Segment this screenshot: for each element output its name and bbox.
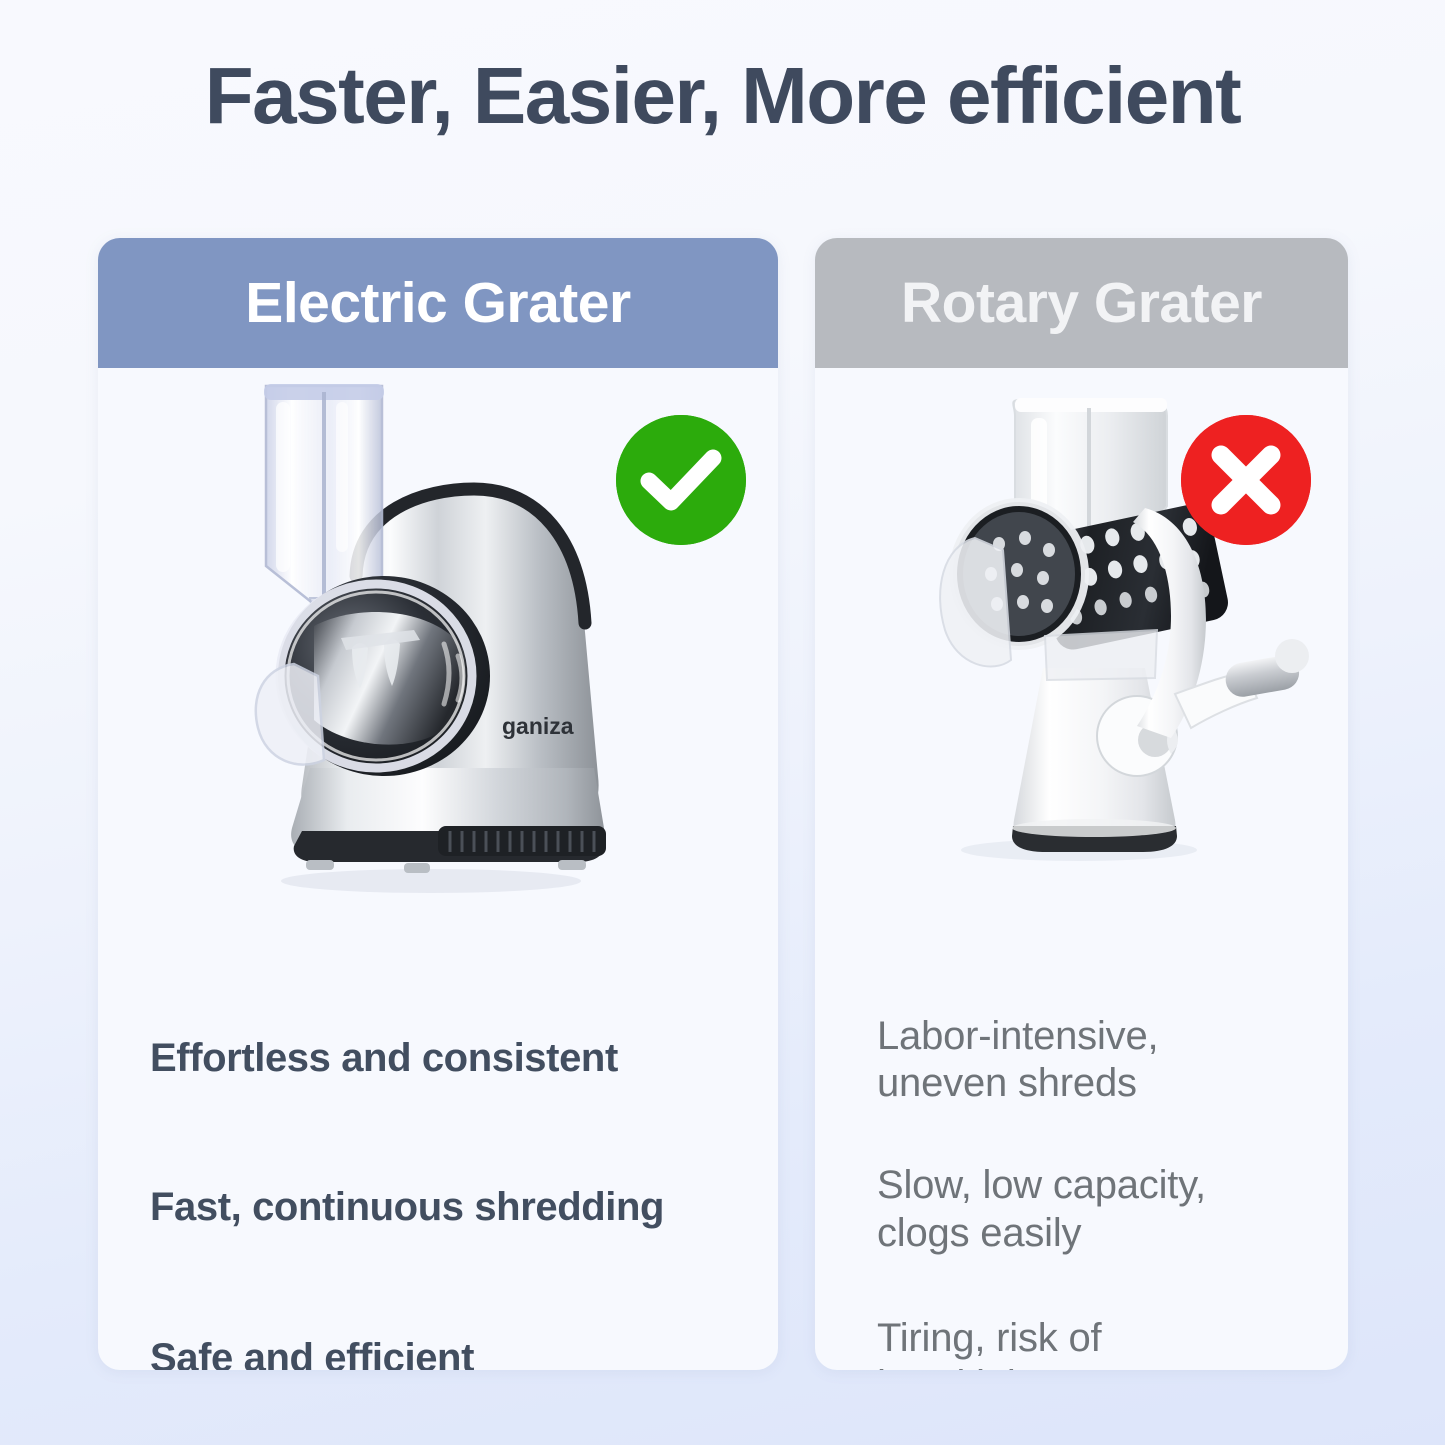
feature-item: Tiring, risk of hand injury bbox=[877, 1315, 1348, 1370]
feature-item: Fast, continuous shredding bbox=[150, 1184, 778, 1230]
card-body-electric-grater: ganiza Effortless and consistent Fast, c… bbox=[98, 368, 778, 1370]
check-icon bbox=[616, 415, 746, 545]
feature-item: Slow, low capacity, clogs easily bbox=[877, 1162, 1348, 1256]
product-area-electric: ganiza bbox=[98, 368, 778, 913]
brand-logo: ganiza bbox=[502, 713, 574, 739]
cross-icon bbox=[1181, 415, 1311, 545]
card-rotary-grater: Rotary Grater bbox=[815, 238, 1348, 1370]
product-area-rotary bbox=[815, 368, 1348, 913]
page-title: Faster, Easier, More efficient bbox=[0, 52, 1445, 140]
card-electric-grater: Electric Grater bbox=[98, 238, 778, 1370]
comparison-infographic: Faster, Easier, More efficient Electric … bbox=[0, 0, 1445, 1445]
feature-item: Safe and efficient bbox=[150, 1335, 778, 1370]
feature-item: Labor-intensive, uneven shreds bbox=[877, 1013, 1348, 1107]
feature-list-rotary: Labor-intensive, uneven shreds Slow, low… bbox=[815, 913, 1348, 1370]
electric-grater-product-image: ganiza bbox=[206, 376, 646, 906]
card-header-rotary-grater: Rotary Grater bbox=[815, 238, 1348, 368]
card-header-electric-grater: Electric Grater bbox=[98, 238, 778, 368]
card-body-rotary-grater: Labor-intensive, uneven shreds Slow, low… bbox=[815, 368, 1348, 1370]
feature-item: Effortless and consistent bbox=[150, 1035, 778, 1081]
feature-list-electric: Effortless and consistent Fast, continuo… bbox=[98, 913, 778, 1370]
